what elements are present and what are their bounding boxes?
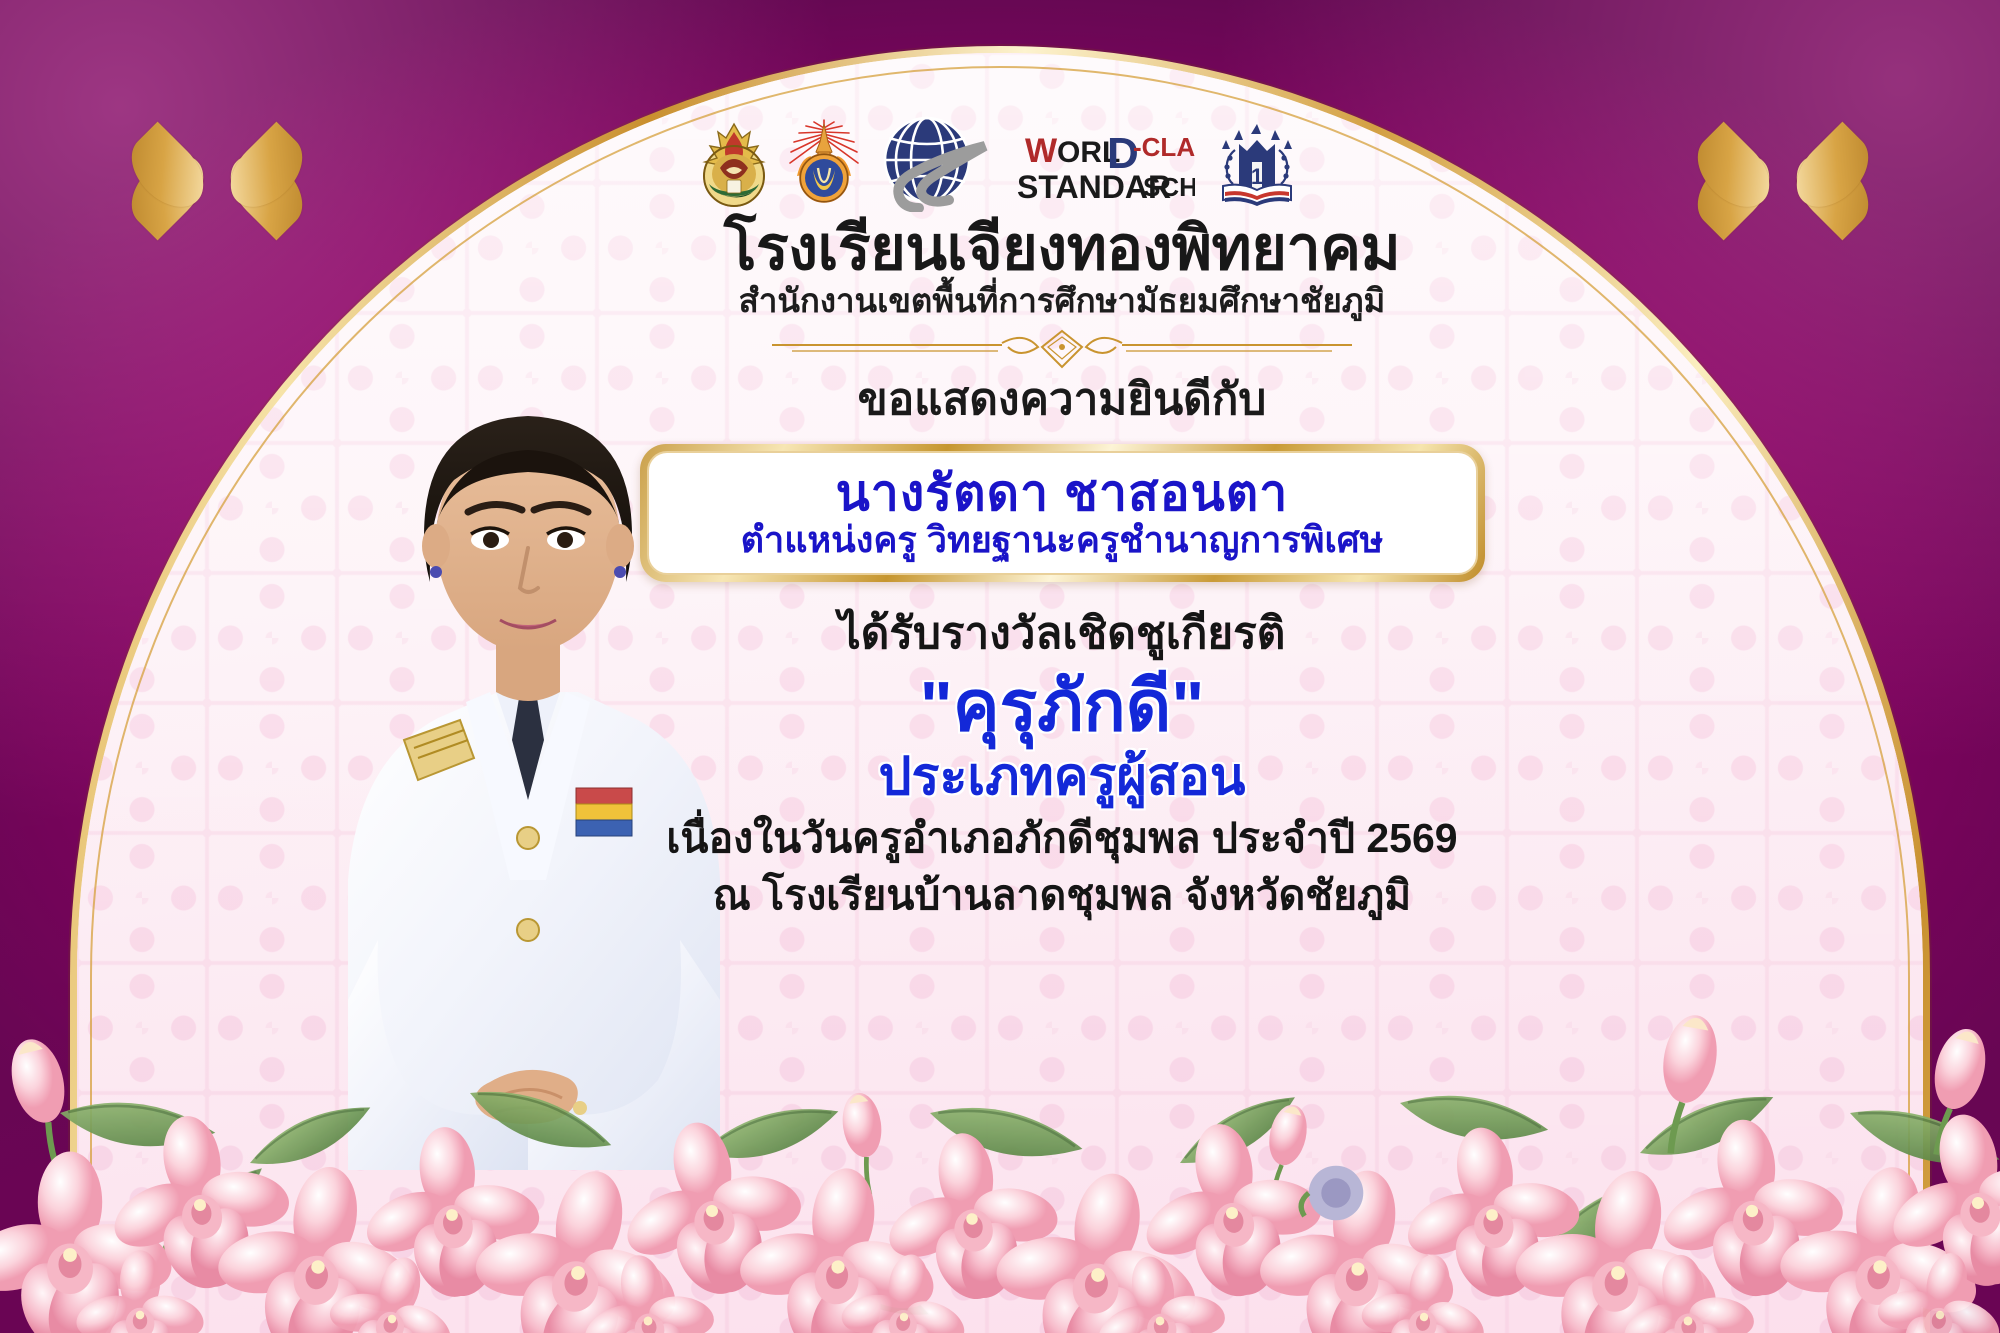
svg-text:SCHOOL: SCHOOL xyxy=(1143,172,1195,202)
recipient-name-box: นางรัตดา ชาสอนตา ตำแหน่งครู วิทยฐานะครูช… xyxy=(640,444,1485,582)
school-crown-book-emblem-icon: 1 xyxy=(1209,118,1305,215)
congratulation-text: ขอแสดงความยินดีกับ xyxy=(622,375,1502,426)
certificate-canvas: W ORL D -CLASS STANDAR SCHOOL xyxy=(0,0,2000,1333)
ministry-of-education-emblem-icon xyxy=(695,118,773,215)
flower-border-band xyxy=(0,863,2000,1333)
recipient-position: ตำแหน่งครู วิทยฐานะครูชำนาญการพิเศษ xyxy=(741,519,1384,560)
education-office-name: สำนักงานเขตพื้นที่การศึกษามัธยมศึกษาชัยภ… xyxy=(622,283,1502,319)
award-lead-text: ได้รับรางวัลเชิดชูเกียรติ xyxy=(622,608,1502,661)
svg-text:W: W xyxy=(1025,132,1058,170)
school-name: โรงเรียนเจียงทองพิทยาคม xyxy=(622,216,1502,281)
award-type: ประเภทครูผู้สอน xyxy=(622,747,1502,808)
recipient-name-box-inner: นางรัตดา ชาสอนตา ตำแหน่งครู วิทยฐานะครูช… xyxy=(647,451,1478,575)
recipient-name: นางรัตดา ชาสอนตา xyxy=(836,465,1289,521)
certificate-text-block: โรงเรียนเจียงทองพิทยาคม สำนักงานเขตพื้นท… xyxy=(622,216,1502,921)
world-class-standard-school-logo-icon: W ORL D -CLASS STANDAR SCHOOL xyxy=(875,116,1195,217)
ornamental-divider xyxy=(622,329,1502,373)
event-line-1: เนื่องในวันครูอำเภอภักดีชุมพล ประจำปี 25… xyxy=(622,812,1502,864)
gold-flourish-right-icon xyxy=(1698,96,1868,266)
obec-emblem-icon xyxy=(787,118,861,215)
svg-text:1: 1 xyxy=(1251,164,1263,189)
logo-row: W ORL D -CLASS STANDAR SCHOOL xyxy=(695,118,1305,214)
award-title: "คุรุภักดี" xyxy=(622,666,1502,747)
svg-text:-CLASS: -CLASS xyxy=(1133,132,1195,162)
